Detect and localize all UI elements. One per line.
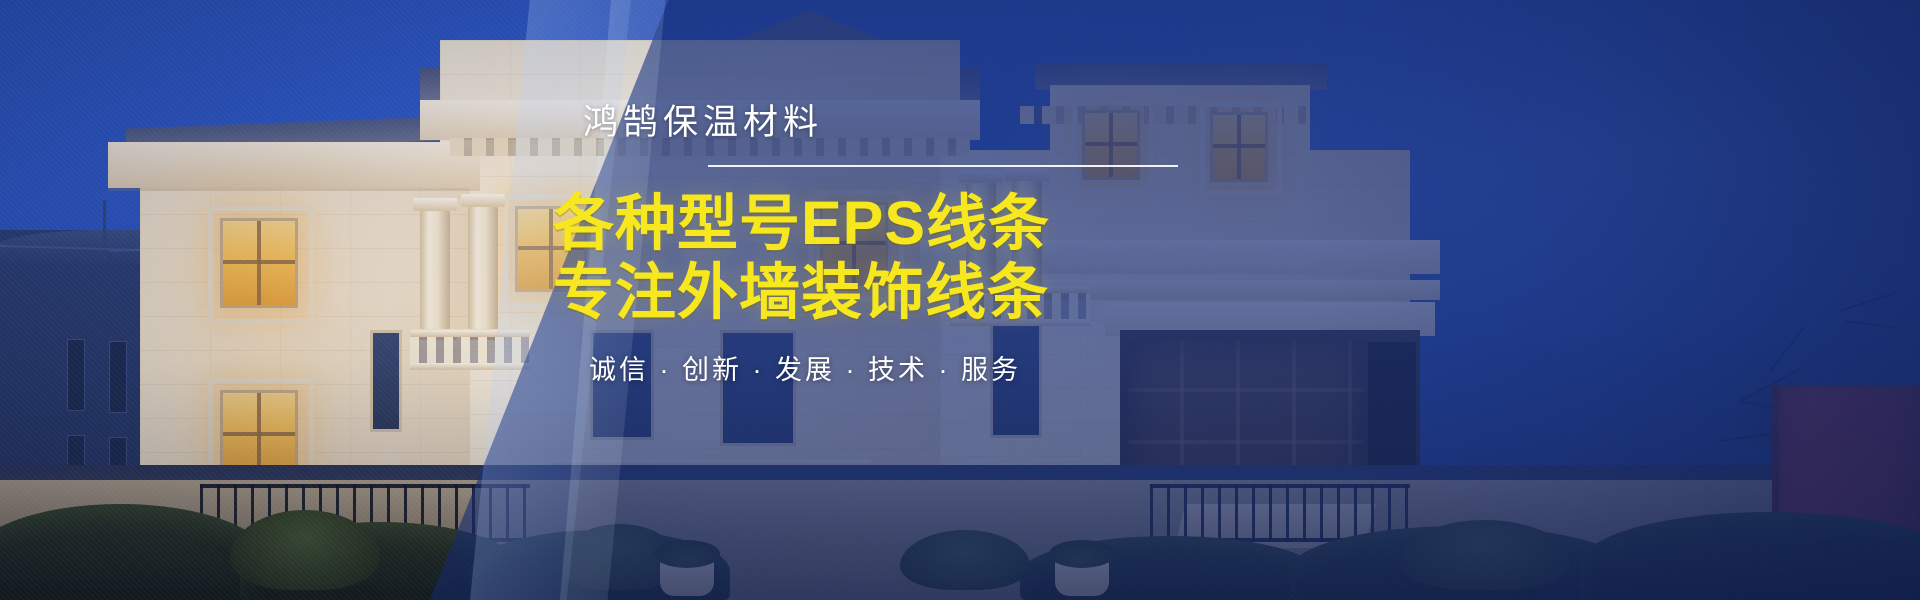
tagline: 诚信 · 创新 · 发展 · 技术 · 服务 (553, 354, 1013, 386)
hero-banner: 鸿鹄保温材料 各种型号EPS线条 专注外墙装饰线条 诚信 · 创新 · 发展 ·… (0, 0, 1920, 600)
banner-content: 鸿鹄保温材料 各种型号EPS线条 专注外墙装饰线条 诚信 · 创新 · 发展 ·… (0, 0, 1920, 600)
title-divider (708, 165, 1178, 167)
headline-line-1: 各种型号EPS线条 (553, 189, 1013, 259)
headline-line-2: 专注外墙装饰线条 (553, 258, 1013, 328)
headline-group: 各种型号EPS线条 专注外墙装饰线条 (553, 189, 1013, 328)
banner-text-block: 鸿鹄保温材料 各种型号EPS线条 专注外墙装饰线条 诚信 · 创新 · 发展 ·… (553, 104, 1013, 386)
brand-name: 鸿鹄保温材料 (553, 104, 1013, 143)
